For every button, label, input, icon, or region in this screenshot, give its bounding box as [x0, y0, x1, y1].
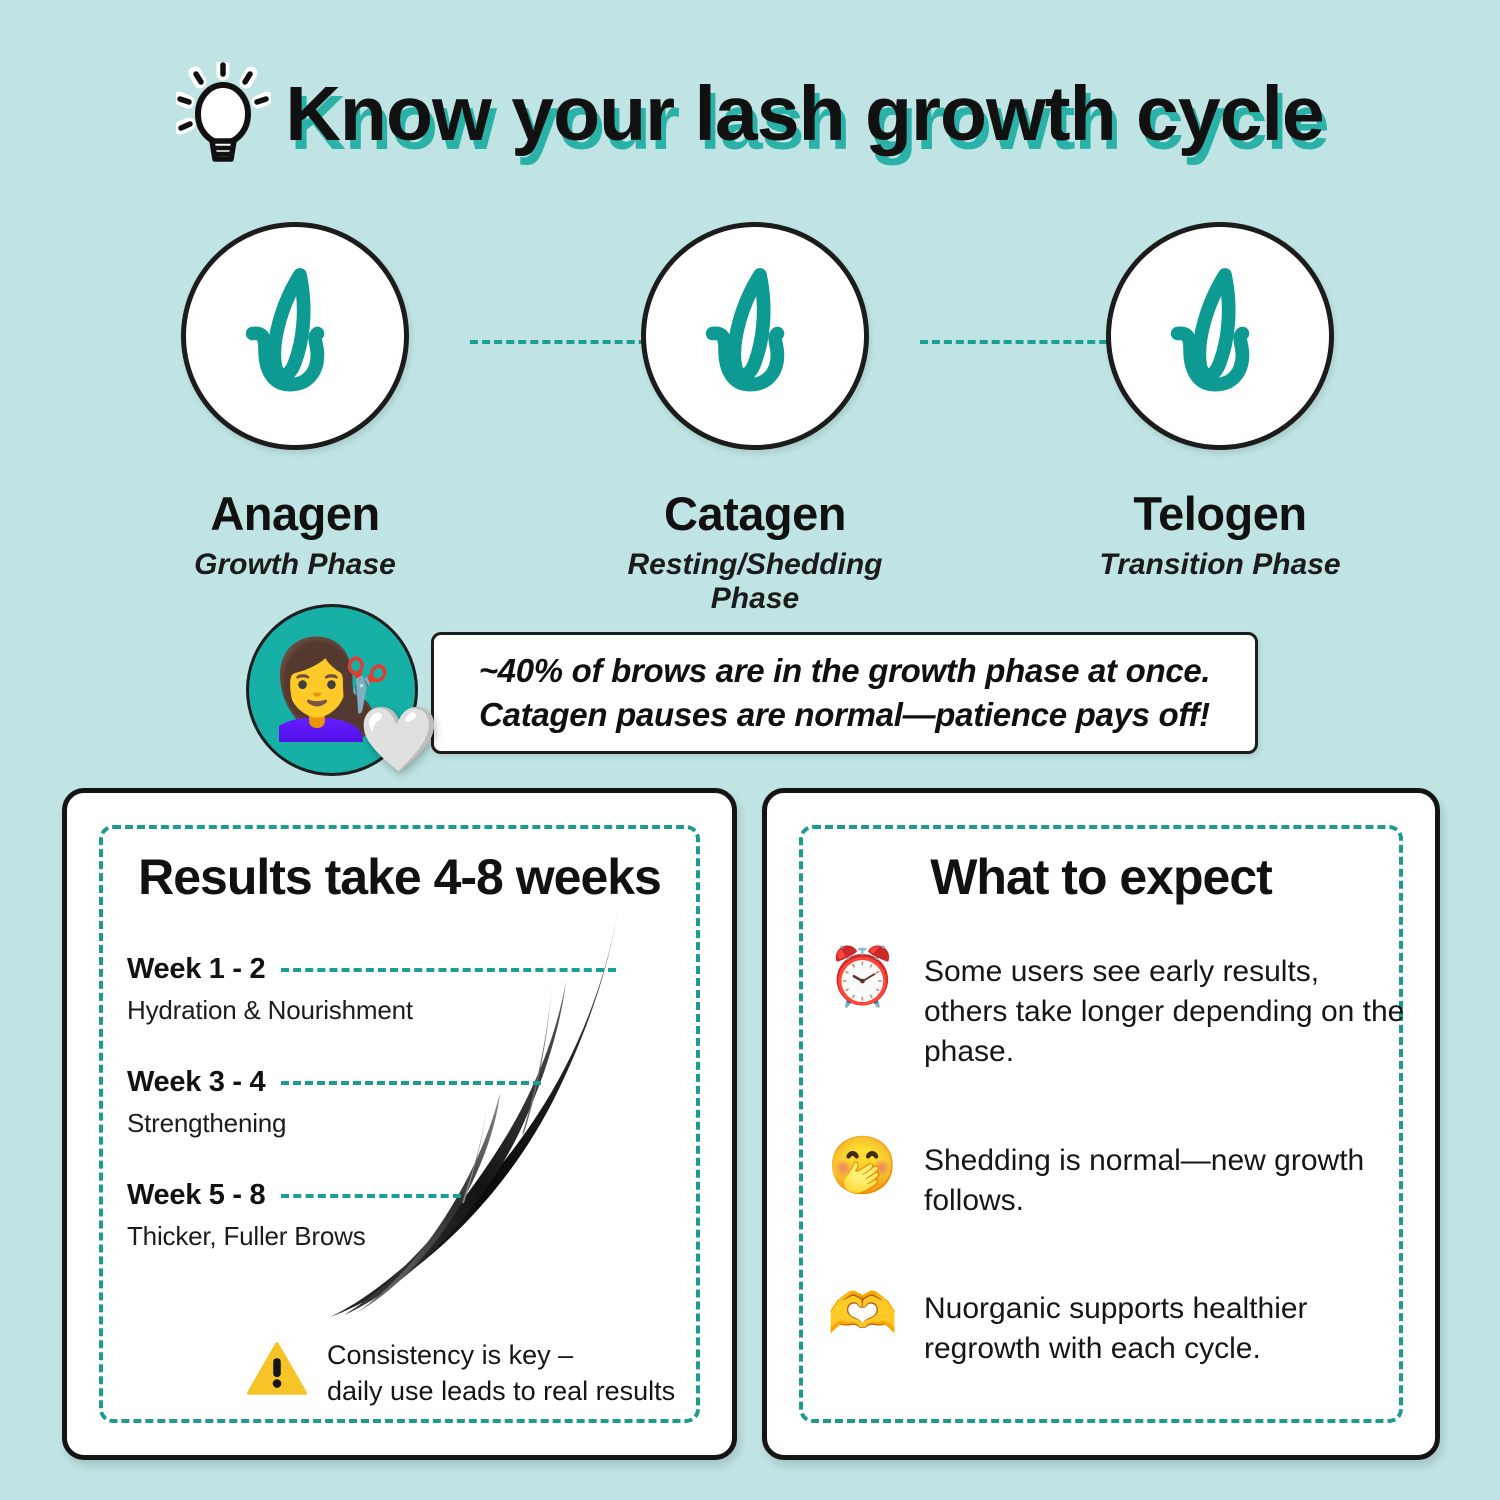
phase-icon-circle [181, 222, 409, 450]
callout-line-2: Catagen pauses are normal—patience pays … [479, 696, 1210, 734]
stat-callout: ~40% of brows are in the growth phase at… [246, 604, 1258, 780]
week-description: Hydration & Nourishment [127, 995, 687, 1026]
list-item-text: Some users see early results, others tak… [924, 948, 1407, 1073]
phase-name: Anagen [145, 486, 445, 541]
phase-anagen[interactable]: Anagen Growth Phase [145, 222, 445, 582]
hair-follicle-icon [1145, 255, 1295, 417]
phase-icon-circle [1106, 222, 1334, 450]
consistency-note: Consistency is key – daily use leads to … [247, 1338, 675, 1410]
expectations-list: ⏰ Some users see early results, others t… [827, 948, 1407, 1369]
consistency-text: Consistency is key – daily use leads to … [327, 1338, 675, 1410]
hair-follicle-icon [680, 255, 830, 417]
white-heart-icon: 🤍 [359, 707, 439, 771]
week-description: Thicker, Fuller Brows [127, 1221, 687, 1252]
consistency-line-1: Consistency is key – [327, 1338, 675, 1374]
week-dashed-line [281, 968, 616, 972]
week-dashed-line [281, 1081, 541, 1085]
phase-diagram: Anagen Growth Phase Catagen Resting/Shed… [60, 222, 1440, 582]
page-header: Know your lash growth cycle [0, 52, 1500, 177]
heart-hands-icon: 🫶 [827, 1285, 898, 1345]
page-title-text: Know your lash growth cycle [285, 71, 1323, 157]
week-header: Week 1 - 2 [127, 953, 687, 986]
week-label: Week 1 - 2 [127, 953, 265, 986]
list-item: 🫶 Nuorganic supports healthier regrowth … [827, 1285, 1407, 1369]
expect-card-title: What to expect [767, 848, 1435, 906]
list-item: ⏰ Some users see early results, others t… [827, 948, 1407, 1073]
week-row: Week 1 - 2 Hydration & Nourishment [127, 953, 687, 1066]
week-description: Strengthening [127, 1108, 687, 1139]
list-item: 🤭 Shedding is normal—new growth follows. [827, 1137, 1407, 1221]
phase-subtitle: Growth Phase [145, 548, 445, 582]
phase-catagen[interactable]: Catagen Resting/Shedding Phase [605, 222, 905, 616]
results-timeline-card: Results take 4-8 weeks [62, 788, 737, 1460]
phase-subtitle: Transition Phase [1070, 548, 1370, 582]
hair-follicle-icon [220, 255, 370, 417]
list-item-text: Shedding is normal—new growth follows. [924, 1137, 1407, 1221]
week-label: Week 5 - 8 [127, 1179, 265, 1212]
weeks-list: Week 1 - 2 Hydration & Nourishment Week … [127, 953, 687, 1292]
phase-icon-circle [641, 222, 869, 450]
consistency-line-2: daily use leads to real results [327, 1374, 675, 1410]
page-title: Know your lash growth cycle [285, 76, 1323, 153]
face-with-hands-icon: 🤭 [827, 1137, 898, 1197]
callout-box: ~40% of brows are in the growth phase at… [431, 632, 1258, 754]
week-dashed-line [281, 1194, 461, 1198]
week-row: Week 3 - 4 Strengthening [127, 1066, 687, 1179]
lightbulb-icon [176, 62, 271, 172]
phase-name: Catagen [605, 486, 905, 541]
phase-telogen[interactable]: Telogen Transition Phase [1070, 222, 1370, 582]
list-item-text: Nuorganic supports healthier regrowth wi… [924, 1285, 1407, 1369]
alarm-clock-icon: ⏰ [827, 948, 898, 1008]
week-header: Week 3 - 4 [127, 1066, 687, 1099]
week-label: Week 3 - 4 [127, 1066, 265, 1099]
week-row: Week 5 - 8 Thicker, Fuller Brows [127, 1179, 687, 1292]
results-card-title: Results take 4-8 weeks [67, 848, 732, 906]
what-to-expect-card: What to expect ⏰ Some users see early re… [762, 788, 1440, 1460]
warning-triangle-icon [247, 1341, 307, 1406]
callout-line-1: ~40% of brows are in the growth phase at… [479, 652, 1211, 690]
phase-name: Telogen [1070, 486, 1370, 541]
week-header: Week 5 - 8 [127, 1179, 687, 1212]
